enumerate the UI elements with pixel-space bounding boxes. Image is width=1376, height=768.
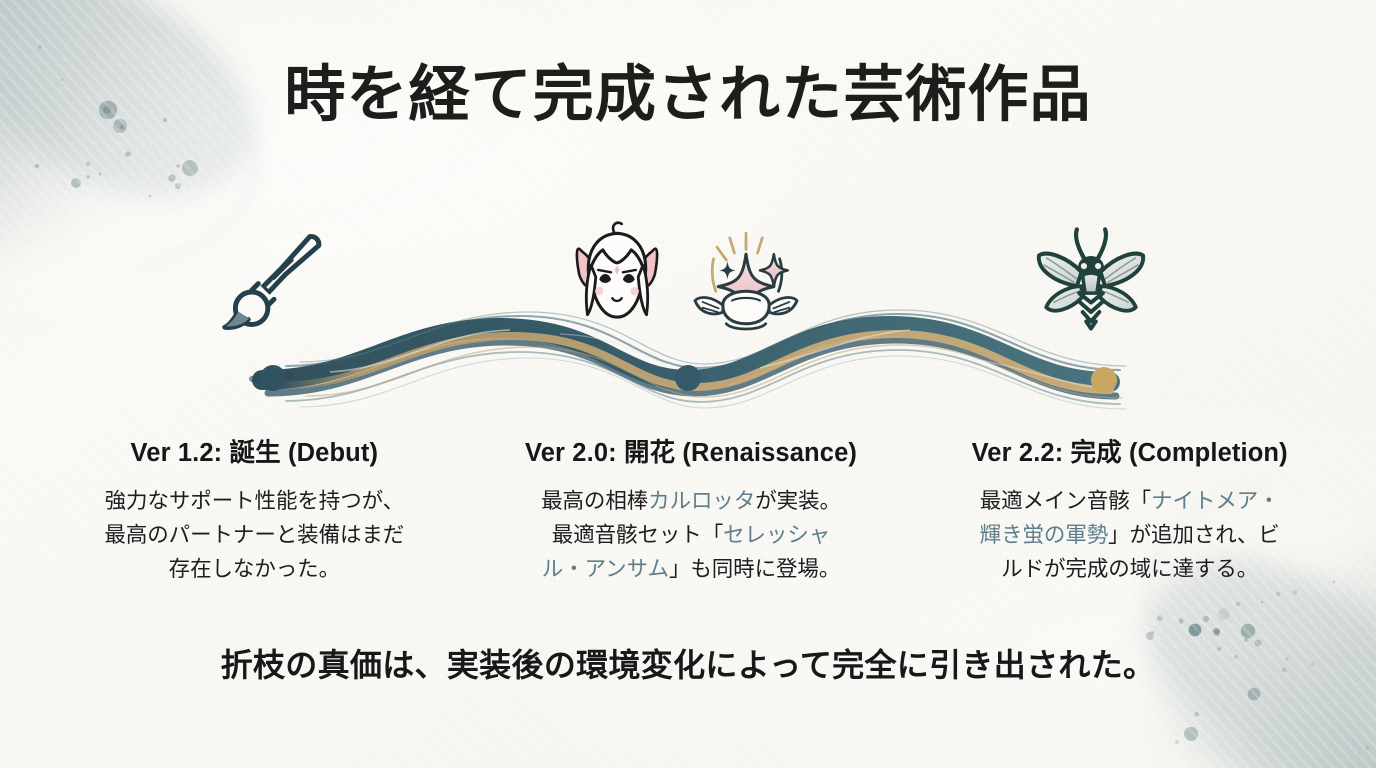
desc-line: ル・アンサム」も同時に登場。 [507, 553, 876, 587]
desc-line: 最高のパートナーと装備はまだ [70, 519, 439, 553]
milestone-description-3: 最適メイン音骸「ナイトメア・ 輝き蛍の軍勢」が追加され、ビ ルドが完成の域に達す… [945, 485, 1314, 587]
highlight-term: カルロッタ [648, 489, 755, 513]
footer-conclusion: 折枝の真価は、実装後の環境変化によって完全に引き出された。 [0, 640, 1376, 686]
milestone-column-1: Ver 1.2: 誕生 (Debut) 強力なサポート性能を持つが、 最高のパー… [0, 432, 477, 587]
timeline-node-1[interactable] [260, 365, 286, 391]
slide-canvas: 時を経て完成された芸術作品 [0, 0, 1376, 768]
footer-text: 折枝の真価は、実装後の環境変化によって完全に引き出された。 [0, 640, 1376, 686]
milestone-description-2: 最高の相棒カルロッタが実装。 最適音骸セット「セレッシャ ル・アンサム」も同時に… [507, 485, 876, 587]
sparkle-laurel-icon [688, 224, 804, 340]
highlight-term: 輝き蛍の軍勢 [980, 523, 1109, 547]
milestone-columns: Ver 1.2: 誕生 (Debut) 強力なサポート性能を持つが、 最高のパー… [0, 432, 1376, 587]
desc-line: 最適音骸セット「セレッシャ [507, 519, 876, 553]
milestone-version-label-1: Ver 1.2: 誕生 (Debut) [70, 432, 439, 469]
milestone-version-label-3: Ver 2.2: 完成 (Completion) [945, 432, 1314, 469]
milestone-column-3: Ver 2.2: 完成 (Completion) 最適メイン音骸「ナイトメア・ … [905, 432, 1376, 587]
highlight-term: セレッシャ [723, 523, 830, 547]
page-title: 時を経て完成された芸術作品 [0, 62, 1376, 129]
firefly-icon [1032, 220, 1150, 338]
character-portrait-icon [558, 218, 676, 336]
desc-line: 存在しなかった。 [70, 553, 439, 587]
timeline-node-2[interactable] [675, 365, 701, 391]
paintbrush-icon [218, 222, 330, 334]
desc-line: ルドが完成の域に達する。 [945, 553, 1314, 587]
milestone-column-2: Ver 2.0: 開花 (Renaissance) 最高の相棒カルロッタが実装。… [477, 432, 906, 587]
timeline-node-3[interactable] [1091, 367, 1117, 393]
milestone-description-1: 強力なサポート性能を持つが、 最高のパートナーと装備はまだ 存在しなかった。 [70, 485, 439, 587]
milestone-version-label-2: Ver 2.0: 開花 (Renaissance) [507, 432, 876, 469]
desc-line: 最高の相棒カルロッタが実装。 [507, 485, 876, 519]
desc-line: 強力なサポート性能を持つが、 [70, 485, 439, 519]
highlight-term: ナイトメア・ [1151, 489, 1280, 513]
desc-line: 最適メイン音骸「ナイトメア・ [945, 485, 1314, 519]
highlight-term: ル・アンサム [542, 557, 669, 581]
slide-title-container: 時を経て完成された芸術作品 [0, 62, 1376, 129]
desc-line: 輝き蛍の軍勢」が追加され、ビ [945, 519, 1314, 553]
